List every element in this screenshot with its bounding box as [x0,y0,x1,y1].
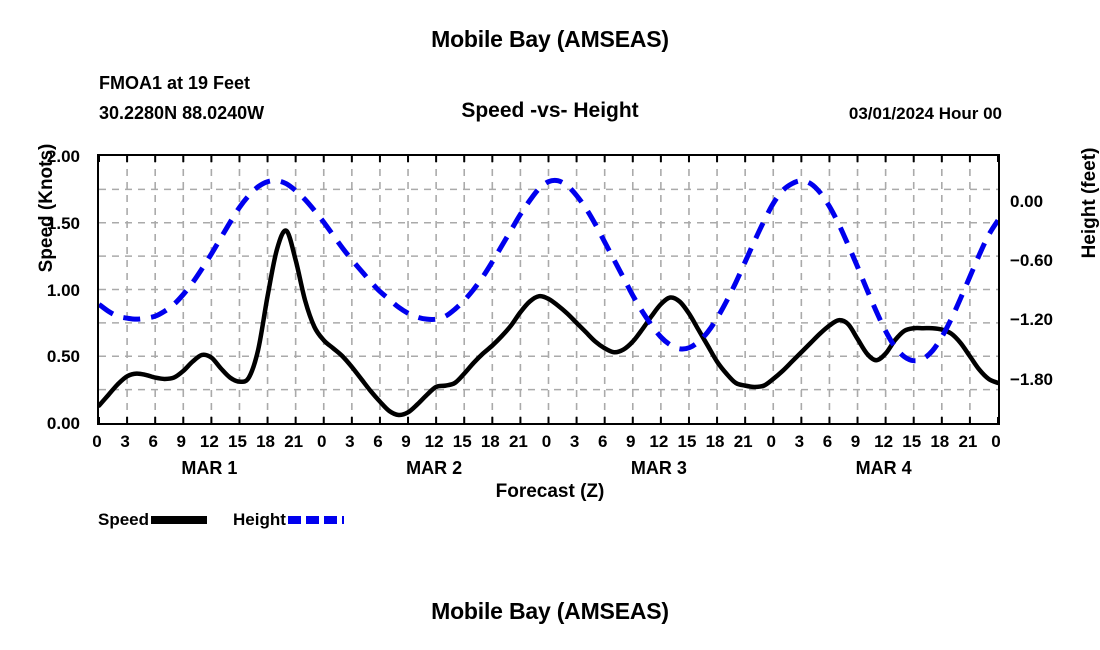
legend-item[interactable]: Speed [98,510,207,530]
y-axis-right-title: Height (feet) [1079,73,1100,333]
legend-item[interactable]: Height [233,510,344,530]
axis-tick-label: 15 [222,432,252,452]
axis-tick-label: 21 [279,432,309,452]
y-axis-left-ticks: 0.000.501.001.502.00 [22,154,80,425]
station-name-label: FMOA1 at 19 Feet [99,73,250,94]
series-line-height [99,180,998,360]
axis-tick-label: 21 [503,432,533,452]
axis-tick-label: 0.00 [22,414,80,434]
axis-tick-label: 0.50 [22,347,80,367]
x-axis-hour-ticks: 0369121518210369121518210369121518210369… [97,432,1000,456]
y-axis-right-ticks: −1.80−1.20−0.600.00 [1010,154,1080,425]
axis-tick-label: −1.20 [1010,310,1080,330]
axis-tick-label: 12 [869,432,899,452]
axis-tick-label: 18 [251,432,281,452]
axis-day-label: MAR 4 [824,458,944,479]
axis-tick-label: 0.00 [1010,192,1080,212]
axis-tick-label: 12 [644,432,674,452]
legend-item-label: Speed [98,510,149,530]
axis-tick-label: 3 [784,432,814,452]
axis-tick-label: 12 [194,432,224,452]
axis-tick-label: 21 [953,432,983,452]
axis-tick-label: 0 [307,432,337,452]
axis-tick-label: 18 [700,432,730,452]
plot-area [97,154,1000,425]
axis-tick-label: 9 [616,432,646,452]
axis-tick-label: 6 [812,432,842,452]
axis-day-label: MAR 2 [374,458,494,479]
axis-tick-label: 1.00 [22,281,80,301]
axis-tick-label: 18 [925,432,955,452]
bottom-title: Mobile Bay (AMSEAS) [0,598,1100,625]
axis-tick-label: 15 [672,432,702,452]
axis-tick-label: 3 [110,432,140,452]
axis-tick-label: 3 [560,432,590,452]
axis-tick-label: 0 [981,432,1011,452]
axis-tick-label: 15 [447,432,477,452]
x-axis-title: Forecast (Z) [0,481,1100,503]
axis-tick-label: 18 [475,432,505,452]
axis-day-label: MAR 1 [149,458,269,479]
x-axis-day-labels: MAR 1MAR 2MAR 3MAR 4 [97,458,1000,482]
legend-item-swatch [288,516,344,524]
axis-tick-label: 3 [335,432,365,452]
axis-tick-label: 9 [391,432,421,452]
chart-legend: SpeedHeight [98,508,370,532]
axis-tick-label: 2.00 [22,147,80,167]
axis-tick-label: 0 [532,432,562,452]
axis-tick-label: 21 [728,432,758,452]
chart-canvas [99,156,998,423]
legend-item-swatch [151,516,207,524]
grid-lines [99,156,998,423]
axis-tick-label: −0.60 [1010,251,1080,271]
axis-tick-label: 12 [419,432,449,452]
page-title: Mobile Bay (AMSEAS) [0,26,1100,53]
axis-tick-label: 1.50 [22,214,80,234]
axis-tick-label: 15 [897,432,927,452]
axis-tick-label: 0 [756,432,786,452]
axis-tick-label: −1.80 [1010,370,1080,390]
legend-item-label: Height [233,510,286,530]
axis-tick-label: 6 [138,432,168,452]
axis-tick-label: 9 [841,432,871,452]
axis-tick-label: 6 [588,432,618,452]
axis-tick-label: 0 [82,432,112,452]
model-run-timestamp: 03/01/2024 Hour 00 [849,104,1002,124]
axis-day-label: MAR 3 [599,458,719,479]
axis-tick-label: 6 [363,432,393,452]
axis-tick-label: 9 [166,432,196,452]
